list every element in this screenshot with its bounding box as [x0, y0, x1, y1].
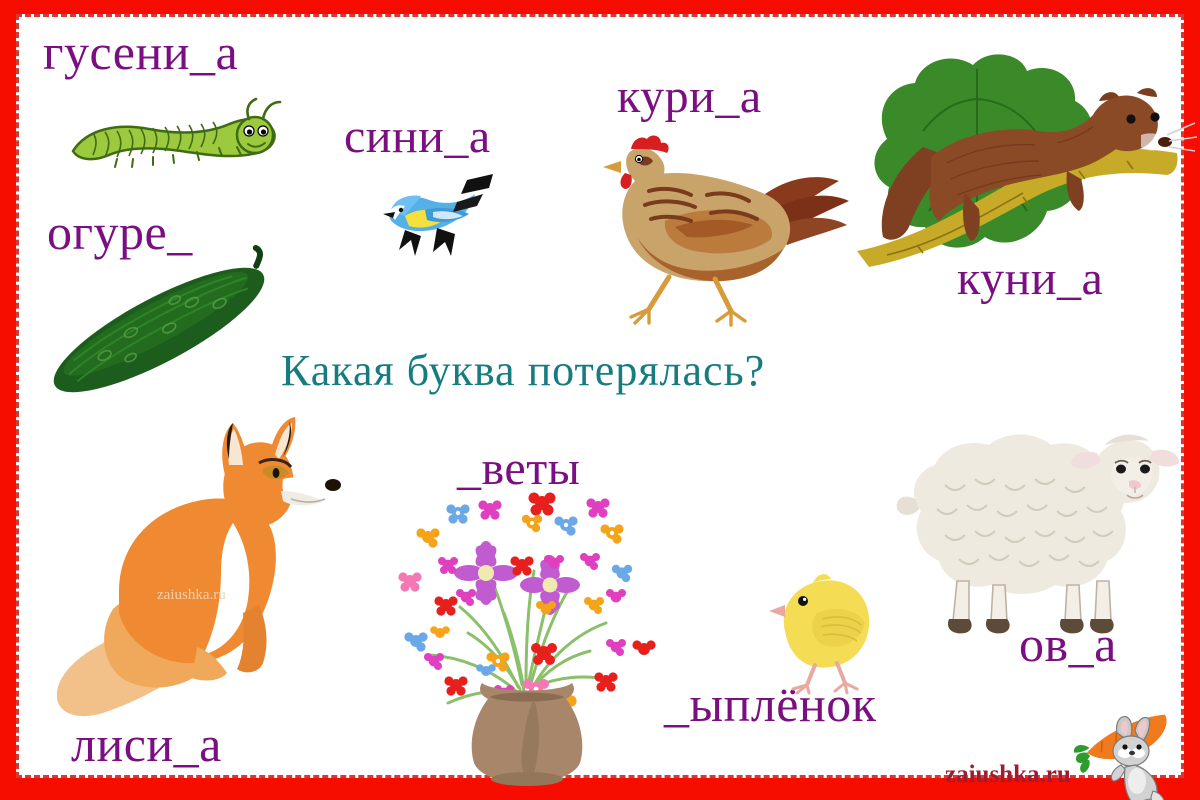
sheep-illustration	[881, 389, 1181, 649]
chick-illustration	[761, 565, 891, 695]
blue-tit-illustration	[371, 172, 496, 282]
cucumber-illustration	[29, 255, 289, 405]
page-title: Какая буква потерялась?	[281, 345, 765, 396]
word-label-hen: кури_а	[617, 73, 762, 121]
brand-watermark: zaiushka.ru	[945, 761, 1071, 789]
hen-illustration	[591, 129, 861, 329]
worksheet-page: гусени_а	[0, 0, 1200, 800]
marten-illustration	[827, 39, 1197, 289]
fox-illustration	[47, 395, 347, 725]
bunny-with-carrot-logo	[1065, 715, 1183, 800]
word-label-caterpillar: гусени_а	[43, 27, 238, 77]
caterpillar-illustration	[57, 89, 297, 169]
fox-watermark: zaiushka.ru	[157, 587, 226, 604]
word-label-cucumber: огуре_	[47, 207, 193, 257]
flower-vase-illustration	[394, 485, 659, 785]
worksheet-sheet: гусени_а	[16, 14, 1184, 778]
word-label-bluetit: сини_а	[344, 113, 491, 161]
word-label-fox: лиси_а	[71, 719, 222, 769]
